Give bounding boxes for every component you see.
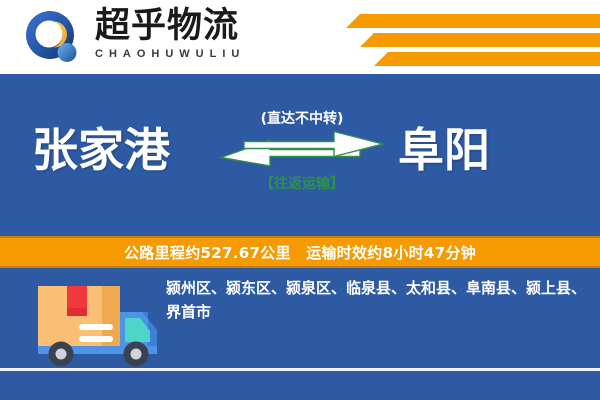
- route-row: 张家港 (直达不中转) 【往返运输】 阜阳: [0, 74, 600, 236]
- round-trip-note: 【往返运输】: [218, 175, 386, 193]
- brand-name-cn: 超乎物流: [95, 6, 245, 46]
- speed-stripes-icon: [340, 0, 600, 74]
- distance-duration-bar: 公路里程约527.67公里 运输时效约8小时47分钟: [0, 236, 600, 268]
- circle-q-logo-icon: [24, 9, 82, 67]
- distance-duration-text: 公路里程约527.67公里 运输时效约8小时47分钟: [124, 242, 476, 263]
- main-blue-panel: 张家港 (直达不中转) 【往返运输】 阜阳 公路里程约527.67: [0, 74, 600, 400]
- direct-route-note: (直达不中转): [218, 110, 386, 128]
- destination-city: 阜阳: [398, 122, 490, 178]
- bidirectional-arrow-icon: [218, 130, 386, 174]
- route-middle: (直达不中转) 【往返运输】: [218, 110, 386, 193]
- road-line-icon: [0, 368, 600, 371]
- coverage-area-list: 颍州区、颍东区、颍泉区、临泉县、太和县、阜南县、颍上县、界首市: [166, 276, 586, 324]
- delivery-truck-icon: [30, 274, 165, 369]
- brand-name-en: CHAOHUWULIU: [95, 47, 245, 61]
- logistics-route-banner: 超乎物流 CHAOHUWULIU 张家港 (直达不中转): [0, 0, 600, 400]
- brand-text: 超乎物流 CHAOHUWULIU: [95, 6, 245, 61]
- header-bar: 超乎物流 CHAOHUWULIU: [0, 0, 600, 74]
- origin-city: 张家港: [32, 122, 170, 178]
